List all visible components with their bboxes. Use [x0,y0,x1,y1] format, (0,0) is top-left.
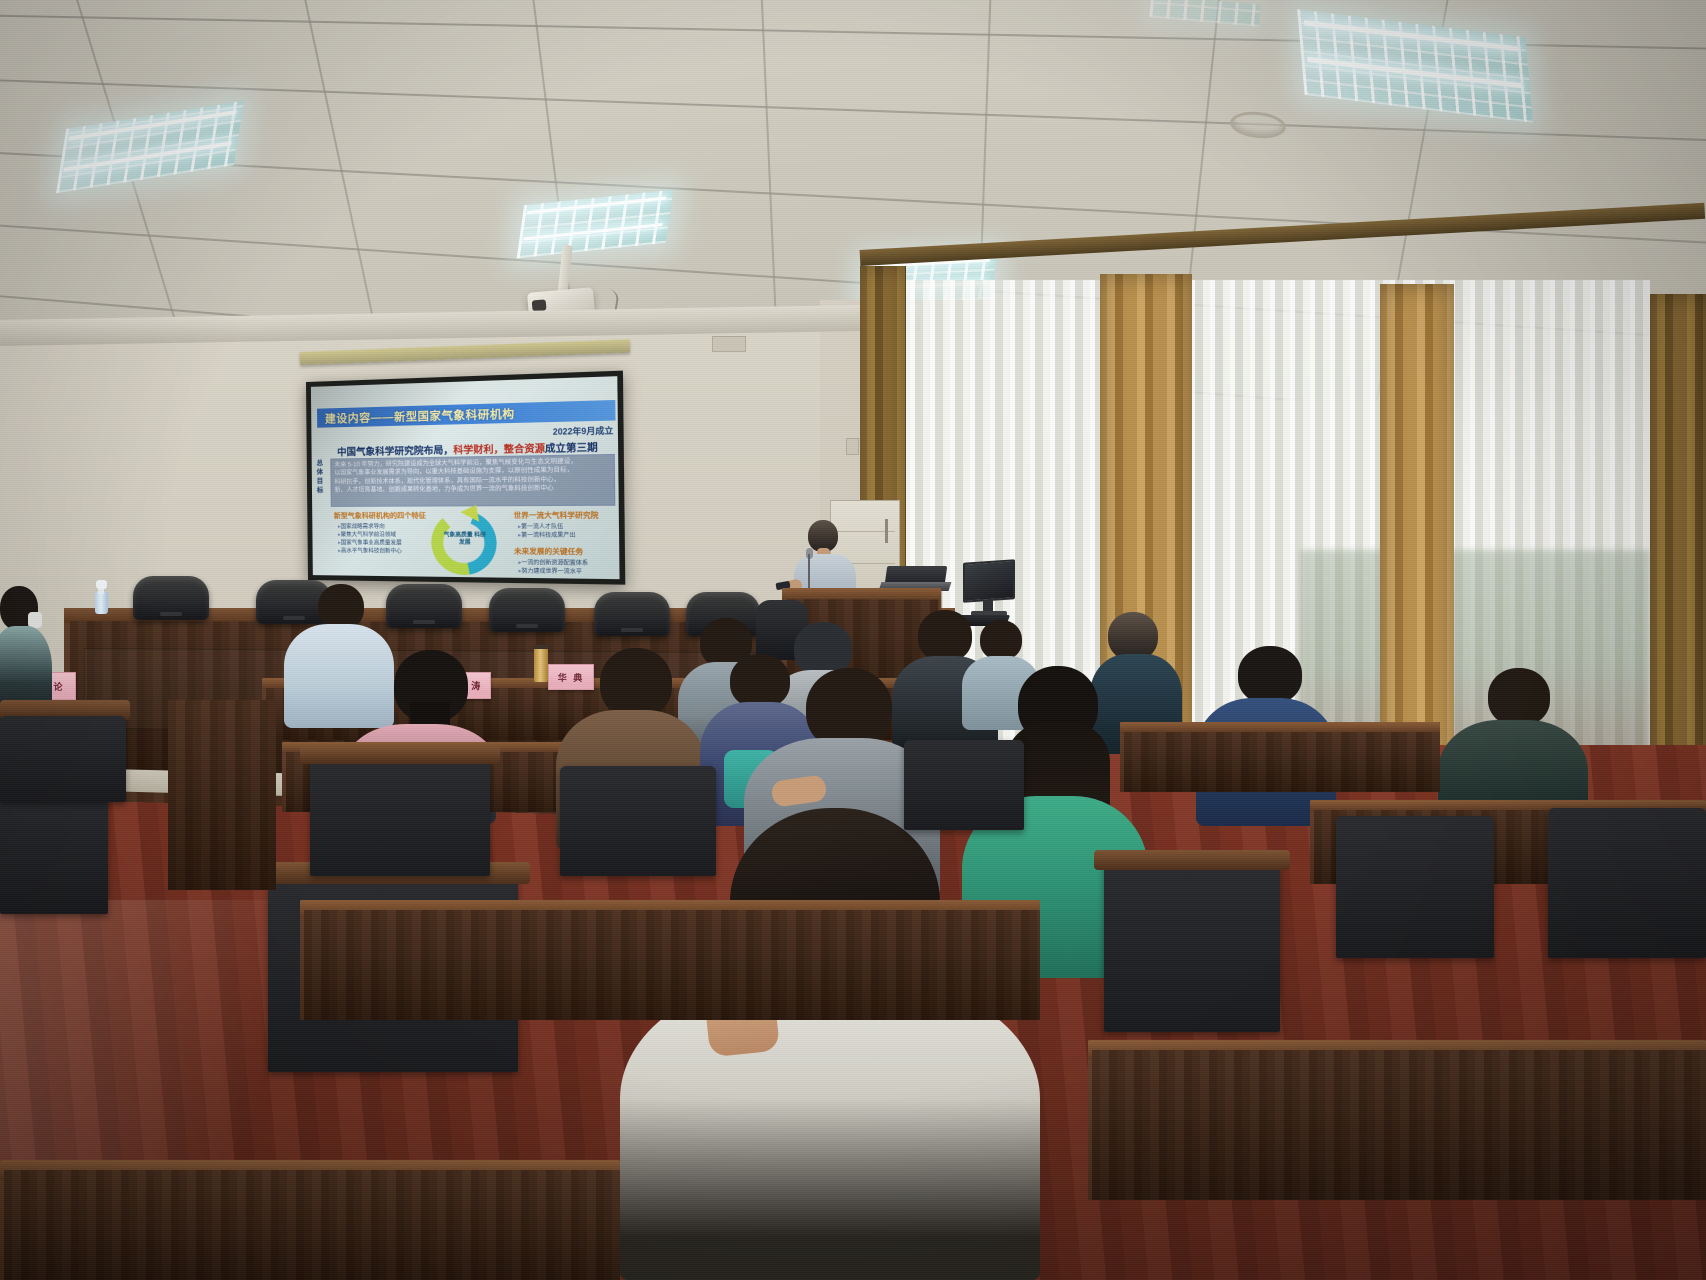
bench-seat[interactable] [0,794,108,914]
audience-desk [1120,722,1440,792]
slide-right-bullets: 第一流人才队伍 第一流科技成果产出 [518,523,576,540]
audience-desk [1088,1040,1706,1200]
dais-chair[interactable] [594,592,670,636]
person-head [1108,612,1158,660]
slide-bullet: 第一流科技成果产出 [518,531,575,540]
audience-desk [0,1160,620,1280]
seated-audience-member [620,808,1040,1280]
slide-right-bullets-2: 一流的创新资源配置体系 努力建成世界一流水平 [518,559,588,577]
photo-scene: 建设内容——新型国家气象科研机构 2022年9月成立 中国气象科学研究院布局，科… [0,0,1706,1280]
bench-seat[interactable] [0,716,126,802]
slide-content: 建设内容——新型国家气象科研机构 2022年9月成立 中国气象科学研究院布局，科… [311,376,620,579]
slide-donut-label: 气象高质量 科研发展 [443,532,487,547]
slide-bullet: 努力建成世界一流水平 [518,567,588,576]
bench-seat[interactable] [1104,862,1280,1032]
slide-side-label: 总体目标 [317,459,327,495]
wall-switch-plate [846,438,859,455]
bench-seat[interactable] [1548,808,1706,958]
slide-bullet: 国家战略需求导向 [338,523,402,531]
bench-seat[interactable] [560,766,716,876]
person-head [600,648,672,718]
wall-outlet-plate [712,336,746,352]
recessed-fluorescent-troffer [1149,0,1260,27]
slide-right-column-head-2: 未来发展的关键任务 [514,546,583,557]
thermos-cup-icon [534,648,548,682]
slide-headline-em1: 科学财利， [453,444,504,456]
slide-right-column-head: 世界一流大气科学研究院 [514,510,599,521]
dais-chair[interactable] [133,576,209,620]
slide-headline-em2: 整合资源 [504,443,545,455]
slide-date-stamp: 2022年9月成立 [553,425,614,438]
smoke-detector-icon [1229,109,1287,141]
slide-bullet: 高水平气象科技创新中心 [338,547,402,556]
slide-headline-post: 成立第三期 [545,442,598,455]
person-head [1238,646,1302,704]
slide-left-column-head: 新型气象科研机构的四个特征 [334,511,426,521]
hand-sanitizer-icon [95,580,108,614]
person-head [980,620,1022,660]
slide-body-line: 新、人才培育基地、创新成果转化基地，力争成为世界一流的气象科技创新中心 [335,484,611,495]
person-torso [620,978,1040,1280]
slide-bullet: 第一流人才队伍 [518,523,575,532]
recessed-fluorescent-troffer [1297,9,1533,123]
desk-side-panel [168,700,276,890]
bench-seat[interactable] [904,740,1024,830]
slide-title: 建设内容——新型国家气象科研机构 [317,405,515,427]
projection-screen[interactable]: 建设内容——新型国家气象科研机构 2022年9月成立 中国气象科学研究院布局，科… [306,371,625,585]
bench-armrest [300,746,500,764]
microphone-icon [806,540,812,592]
slide-body-text: 未来 5-10 年努力，研究院建设成为全球大气科学前沿，聚焦气候变化与生态文明建… [330,454,615,507]
recessed-fluorescent-troffer [517,190,674,259]
slide-left-bullets: 国家战略需求导向 聚焦大气科学前沿领域 国家气象事业高质量发展 高水平气象科技创… [338,523,402,556]
recessed-fluorescent-troffer [56,101,244,194]
dais-chair[interactable] [386,584,462,628]
audience-desk [300,900,1040,1020]
bench-seat[interactable] [1336,816,1494,958]
dais-chair[interactable] [489,588,565,632]
person-head [1488,668,1550,726]
bench-seat[interactable] [310,756,490,876]
slide-bullet: 聚焦大气科学前沿领域 [338,531,402,539]
slide-title-bar: 建设内容——新型国家气象科研机构 [317,400,616,428]
bench-armrest [1094,850,1290,870]
